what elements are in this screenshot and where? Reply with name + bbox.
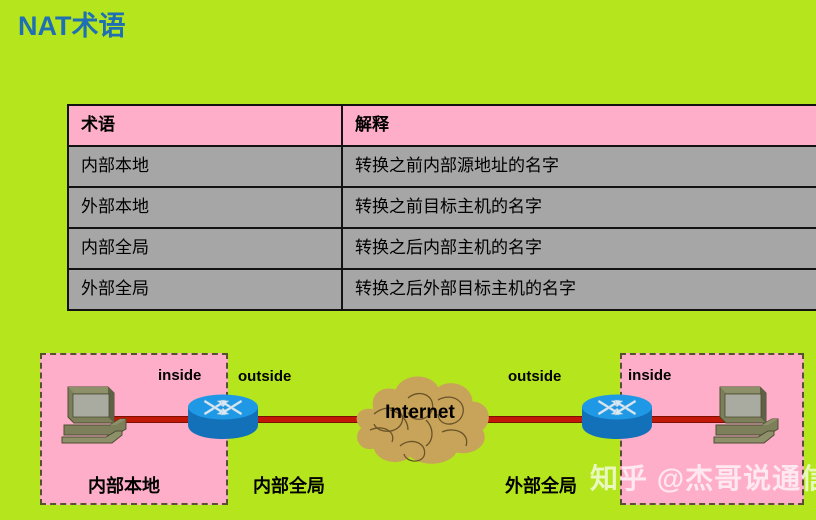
column-header-term: 术语 — [68, 105, 342, 146]
cell-term: 外部全局 — [68, 269, 342, 310]
cell-term: 外部本地 — [68, 187, 342, 228]
workstation-right-icon — [712, 383, 786, 449]
table-header-row: 术语 解释 — [68, 105, 816, 146]
internet-cloud-label: Internet — [330, 402, 510, 424]
table-row: 内部全局 转换之后内部主机的名字 — [68, 228, 816, 269]
cell-term: 内部全局 — [68, 228, 342, 269]
table-row: 外部本地 转换之前目标主机的名字 — [68, 187, 816, 228]
cell-term: 内部本地 — [68, 146, 342, 187]
page-title: NAT术语 — [18, 4, 126, 43]
cell-explanation: 转换之前内部源地址的名字 — [342, 146, 816, 187]
label-outside-left: outside — [238, 368, 291, 385]
caption-inside-global: 内部全局 — [253, 472, 325, 498]
label-outside-right: outside — [508, 368, 561, 385]
cell-explanation: 转换之后外部目标主机的名字 — [342, 269, 816, 310]
caption-inside-local: 内部本地 — [88, 472, 160, 498]
cell-explanation: 转换之前目标主机的名字 — [342, 187, 816, 228]
column-header-explanation: 解释 — [342, 105, 816, 146]
label-inside-right: inside — [628, 367, 671, 384]
router-right-icon — [580, 393, 654, 441]
table-row: 外部全局 转换之后外部目标主机的名字 — [68, 269, 816, 310]
nat-network-diagram: Internet — [0, 340, 816, 520]
workstation-left-icon — [60, 383, 134, 449]
table-row: 内部本地 转换之前内部源地址的名字 — [68, 146, 816, 187]
internet-cloud-icon: Internet — [330, 358, 510, 472]
nat-terminology-table: 术语 解释 内部本地 转换之前内部源地址的名字 外部本地 转换之前目标主机的名字… — [67, 104, 816, 311]
caption-outside-global: 外部全局 — [505, 472, 577, 498]
router-left-icon — [186, 393, 260, 441]
label-inside-left: inside — [158, 367, 201, 384]
cell-explanation: 转换之后内部主机的名字 — [342, 228, 816, 269]
